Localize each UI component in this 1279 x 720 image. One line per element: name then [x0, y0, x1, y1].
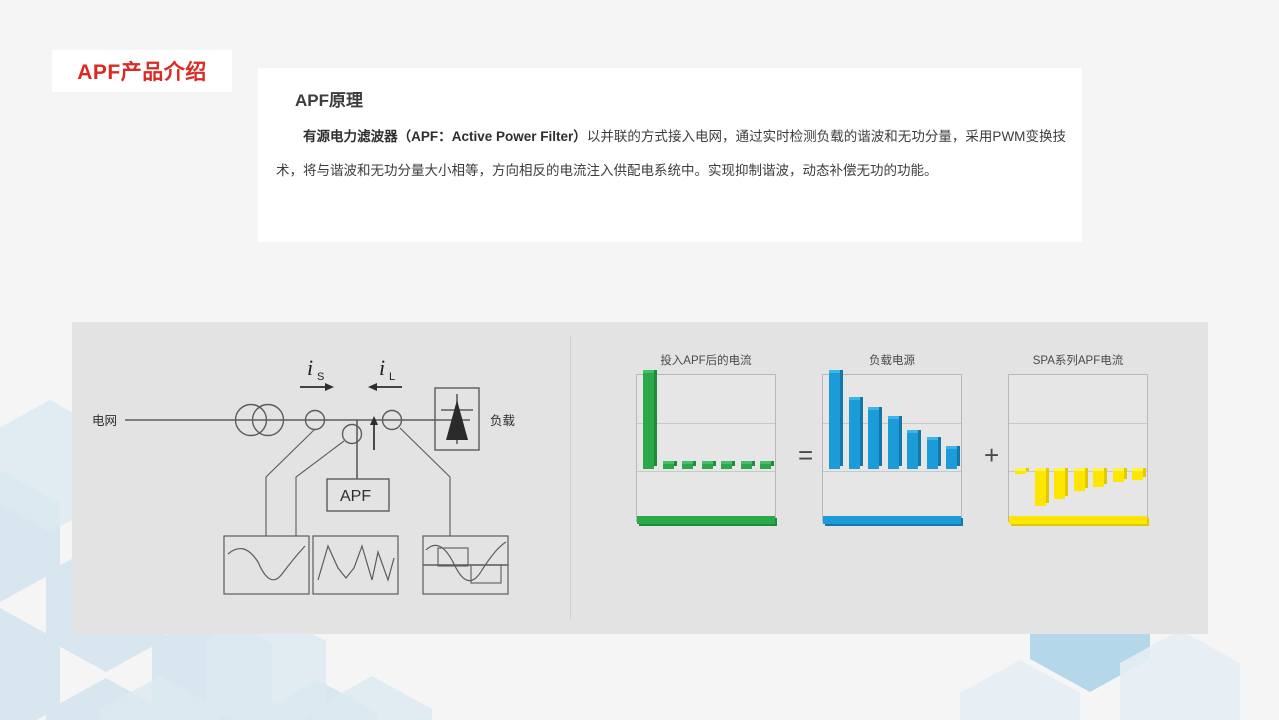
chart-load-source: 负载电源 [822, 374, 962, 522]
bar-top-face [946, 446, 957, 449]
bar [946, 449, 957, 469]
bar-side-face [693, 461, 696, 466]
bar [682, 464, 693, 469]
card-body-lead: 有源电力滤波器（APF：Active Power Filter） [303, 129, 587, 144]
bar-series-2 [1015, 471, 1143, 519]
chart-apf-current: SPA系列APF电流 [1008, 374, 1148, 522]
bar [760, 464, 771, 469]
bar-top-face [868, 407, 879, 410]
bar-side-face [654, 370, 657, 466]
plus-operator: + [984, 440, 999, 471]
bar-top-face [1074, 468, 1085, 471]
bar-side-face [1104, 468, 1107, 484]
bar [1054, 471, 1065, 499]
bar [1035, 471, 1046, 506]
bar [1093, 471, 1104, 487]
chart-plot-2 [1008, 374, 1148, 522]
bar-side-face [1065, 468, 1068, 496]
bar-top-face [702, 461, 713, 464]
equals-operator: = [798, 440, 813, 471]
bar-side-face [957, 446, 960, 466]
floor-0 [637, 516, 775, 524]
chart-plot-1 [822, 374, 962, 522]
bar-side-face [1124, 468, 1127, 479]
gridline [1009, 423, 1147, 424]
current-is-label: i [307, 355, 313, 380]
bar-side-face [1143, 468, 1146, 477]
apf-circuit-diagram: 电网 负载 APF i S i L [72, 322, 570, 634]
floor-2 [1009, 516, 1147, 524]
bar-top-face [682, 461, 693, 464]
bar [663, 464, 674, 469]
bar-side-face [771, 461, 774, 466]
bar [907, 433, 918, 469]
current-is-subscript: S [317, 371, 324, 383]
bar-top-face [1015, 468, 1026, 471]
bar-side-face [840, 370, 843, 466]
bar-top-face [741, 461, 752, 464]
bar [741, 464, 752, 469]
chart-title-1: 负载电源 [822, 352, 962, 368]
slide-canvas: APF产品介绍 APF原理 有源电力滤波器（APF：Active Power F… [0, 0, 1279, 720]
card-heading: APF原理 [295, 86, 363, 111]
bar [1015, 471, 1026, 474]
bar-top-face [907, 430, 918, 433]
bar-side-face [1085, 468, 1088, 488]
diagram-panel: 电网 负载 APF i S i L 投入APF后的电流 = [72, 322, 1208, 634]
bar-top-face [1054, 468, 1065, 471]
bar-side-face [1046, 468, 1049, 503]
bar [1132, 471, 1143, 480]
bar-top-face [760, 461, 771, 464]
grid-label: 电网 [92, 414, 117, 428]
bar [1113, 471, 1124, 482]
bar [702, 464, 713, 469]
card-body: 有源电力滤波器（APF：Active Power Filter）以并联的方式接入… [276, 120, 1066, 188]
apf-box-label: APF [340, 488, 371, 505]
bar-side-face [713, 461, 716, 466]
bar-top-face [927, 437, 938, 440]
bar-top-face [1113, 468, 1124, 471]
principle-text-card: APF原理 有源电力滤波器（APF：Active Power Filter）以并… [258, 68, 1082, 242]
bar-side-face [899, 416, 902, 466]
bar-top-face [1132, 468, 1143, 471]
bar-top-face [1093, 468, 1104, 471]
bar-top-face [1035, 468, 1046, 471]
bar [829, 373, 840, 469]
slide-title-chip: APF产品介绍 [52, 50, 232, 92]
bar-side-face [1026, 468, 1029, 471]
bar [1074, 471, 1085, 491]
bar [849, 400, 860, 469]
floor-1 [823, 516, 961, 524]
bar-side-face [879, 407, 882, 466]
charts-area: 投入APF后的电流 = 负载电源 [570, 322, 1208, 634]
bar-series-0 [643, 373, 771, 469]
chart-plot-0 [636, 374, 776, 522]
bar-side-face [918, 430, 921, 466]
load-label: 负载 [490, 414, 516, 428]
bar-side-face [752, 461, 755, 466]
bar [643, 373, 654, 469]
chart-title-2: SPA系列APF电流 [1008, 352, 1148, 368]
bar [888, 419, 899, 469]
bar-side-face [732, 461, 735, 466]
bar [868, 410, 879, 469]
bar [721, 464, 732, 469]
bar-series-1 [829, 373, 957, 469]
current-il-subscript: L [389, 371, 395, 383]
bar-top-face [721, 461, 732, 464]
page-title: APF产品介绍 [77, 56, 207, 86]
chart-title-0: 投入APF后的电流 [636, 352, 776, 368]
chart-after-apf: 投入APF后的电流 [636, 374, 776, 522]
current-il-label: i [379, 355, 385, 380]
bar-top-face [849, 397, 860, 400]
bar-top-face [829, 370, 840, 373]
bar [927, 440, 938, 469]
bar-top-face [643, 370, 654, 373]
bar-side-face [860, 397, 863, 466]
bar-side-face [938, 437, 941, 466]
bar-top-face [663, 461, 674, 464]
bar-side-face [674, 461, 677, 466]
bar-top-face [888, 416, 899, 419]
baseline [823, 471, 961, 472]
baseline [637, 471, 775, 472]
